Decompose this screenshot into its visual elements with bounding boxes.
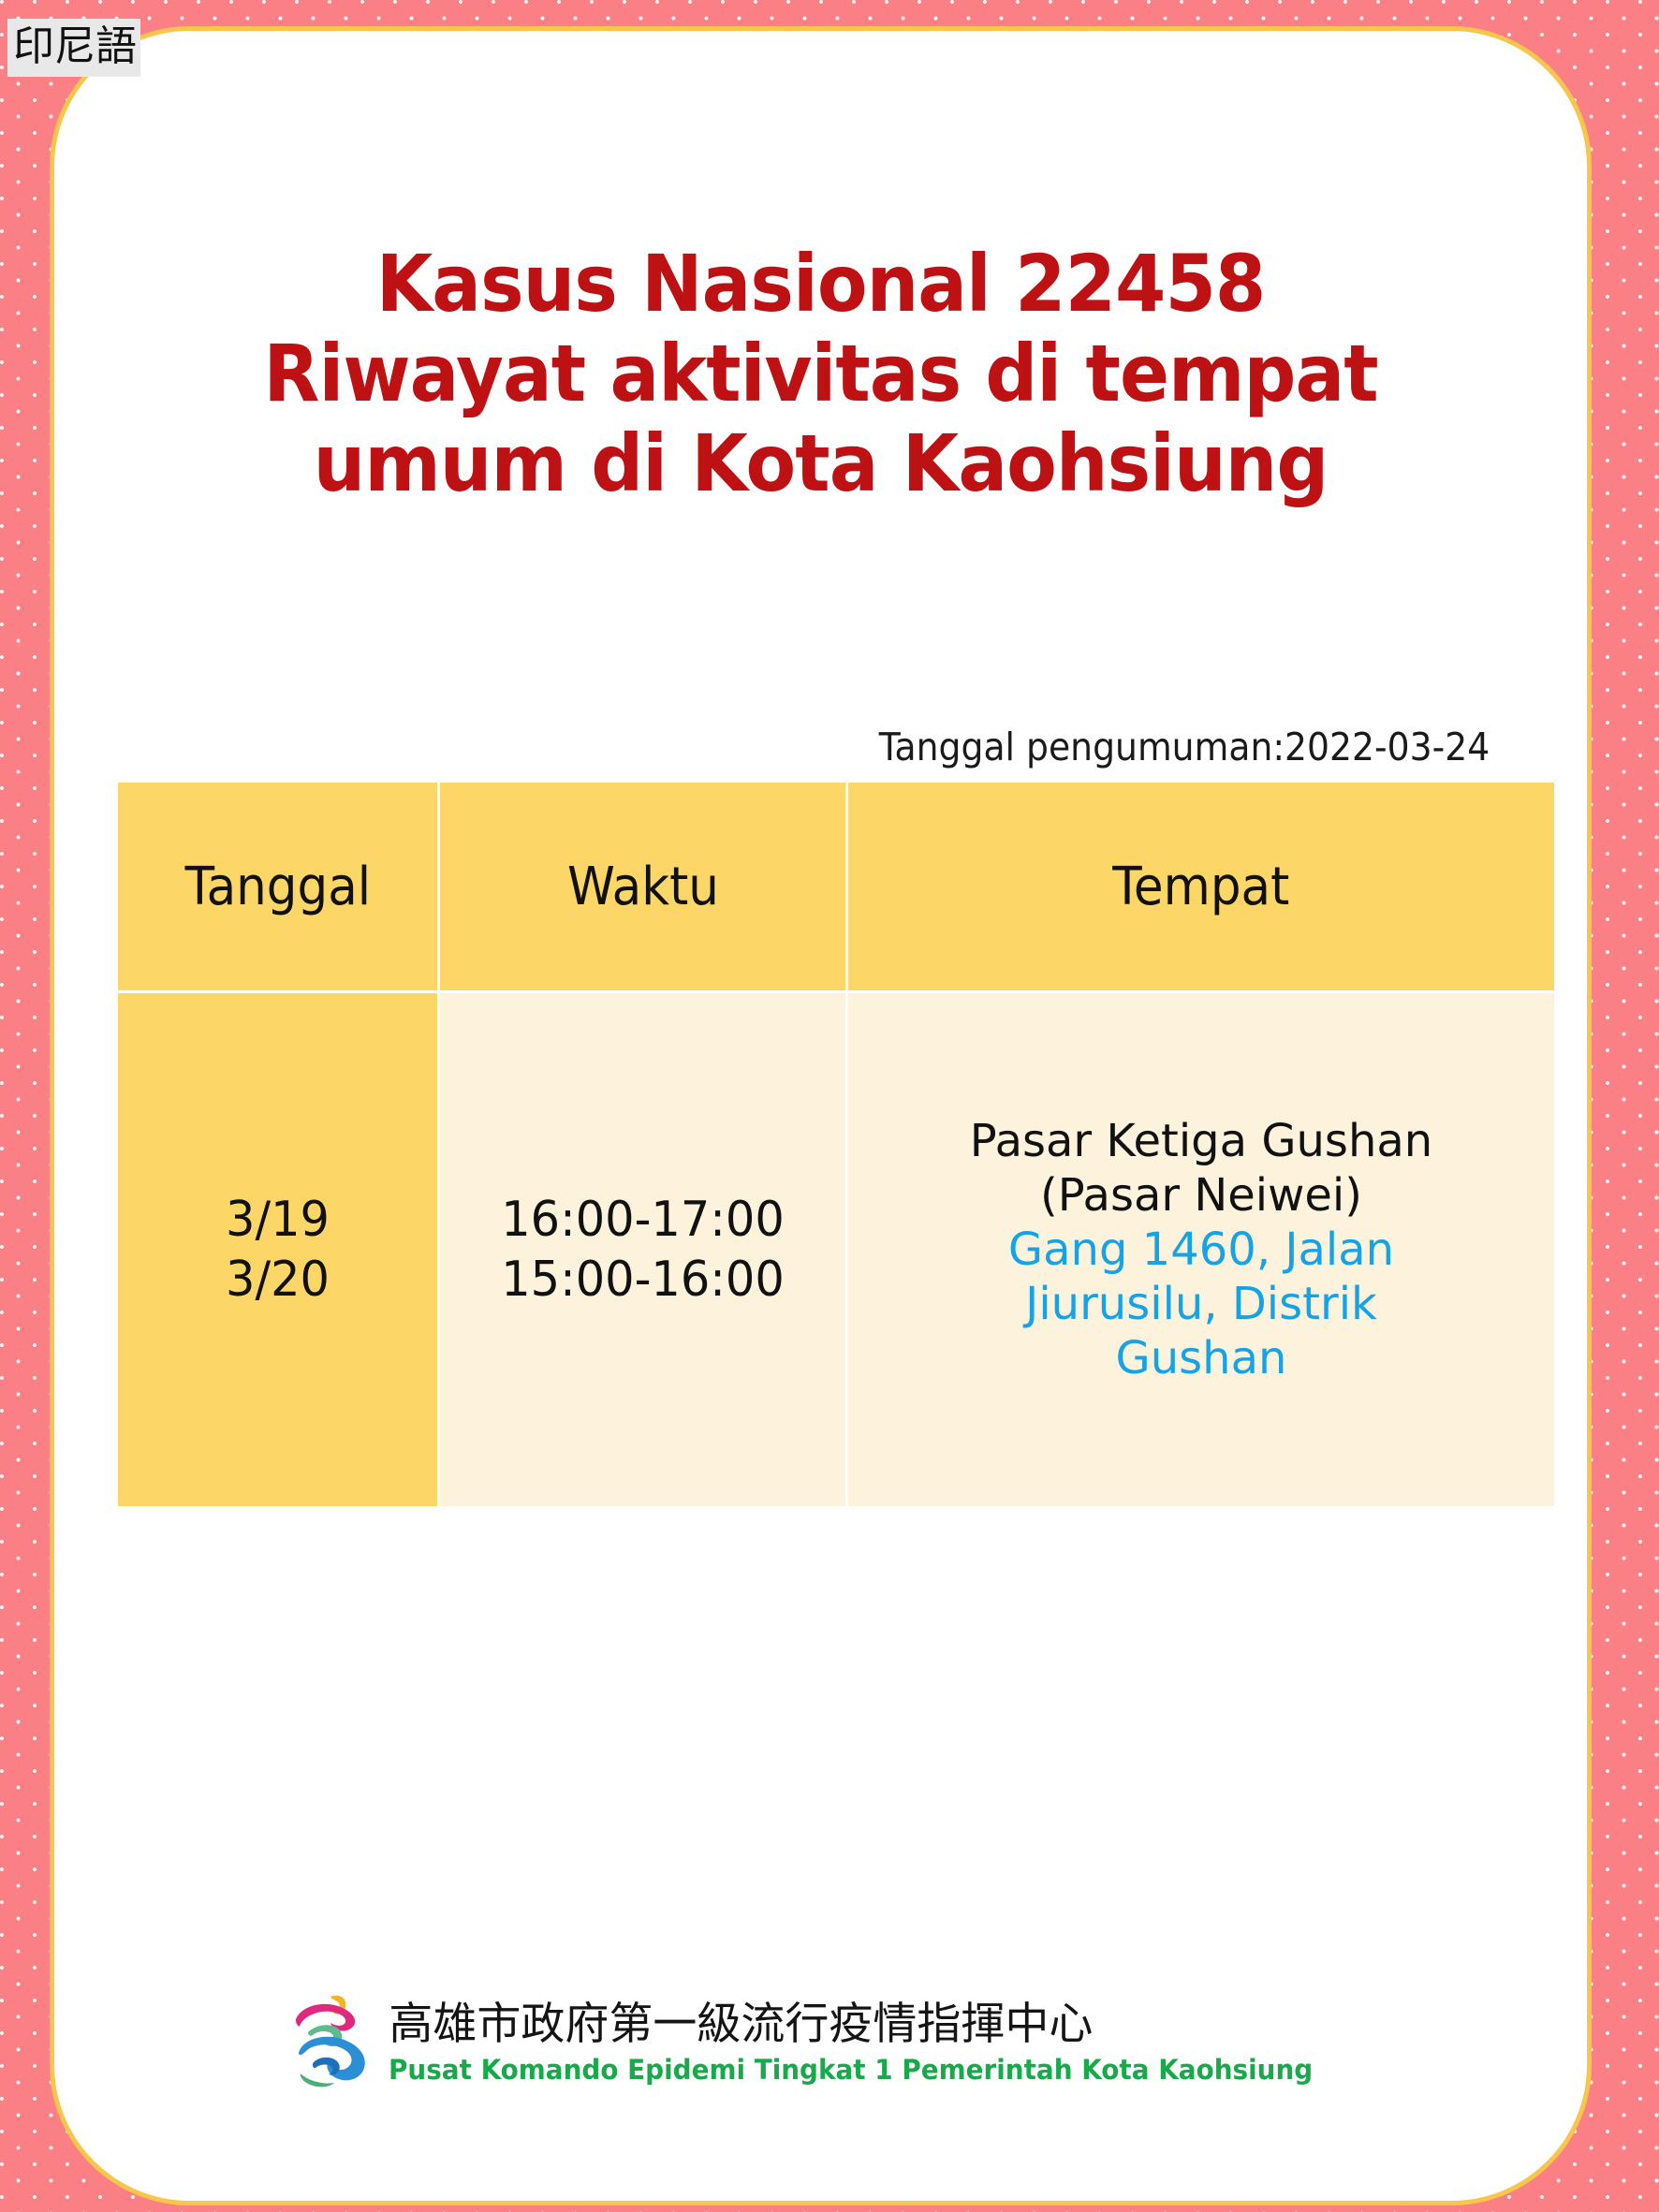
date-value-2: 3/20 xyxy=(126,1250,430,1310)
column-header-time: Waktu xyxy=(439,782,847,992)
time-value-2: 15:00-16:00 xyxy=(450,1250,835,1310)
time-value-1: 16:00-17:00 xyxy=(450,1190,835,1250)
page-title: Kasus Nasional 22458 Riwayat aktivitas d… xyxy=(108,239,1533,508)
activity-table: Tanggal Waktu Tempat 3/19 3/20 16:00-17:… xyxy=(115,780,1557,1509)
announcement-date: Tanggal pengumuman:2022-03-24 xyxy=(878,724,1490,770)
cell-place: Pasar Ketiga Gushan (Pasar Neiwei) Gang … xyxy=(847,992,1556,1508)
cell-times: 16:00-17:00 15:00-16:00 xyxy=(439,992,847,1508)
place-address-line-1: Gang 1460, Jalan xyxy=(861,1223,1541,1277)
organization-name-cn: 高雄市政府第一級流行疫情指揮中心 xyxy=(389,1998,1351,2052)
organization-name-id: Pusat Komando Epidemi Tingkat 1 Pemerint… xyxy=(389,2052,1313,2087)
title-line-2: Riwayat aktivitas di tempat xyxy=(108,329,1533,418)
column-header-time-label: Waktu xyxy=(567,857,719,917)
footer-text-block: 高雄市政府第一級流行疫情指揮中心 Pusat Komando Epidemi T… xyxy=(389,1998,1351,2087)
column-header-place: Tempat xyxy=(847,782,1556,992)
title-line-1: Kasus Nasional 22458 xyxy=(108,239,1533,329)
table-row: 3/19 3/20 16:00-17:00 15:00-16:00 Pasar … xyxy=(117,992,1556,1508)
column-header-date: Tanggal xyxy=(117,782,439,992)
column-header-place-label: Tempat xyxy=(1112,857,1289,917)
place-address-line-2: Jiurusilu, Distrik xyxy=(861,1277,1541,1331)
table-header: Tanggal Waktu Tempat xyxy=(117,782,1556,992)
place-address-line-3: Gushan xyxy=(861,1331,1541,1385)
date-value-1: 3/19 xyxy=(126,1190,430,1250)
language-badge: 印尼語 xyxy=(7,19,140,77)
place-name-line-1: Pasar Ketiga Gushan xyxy=(861,1114,1541,1168)
poster-card: Kasus Nasional 22458 Riwayat aktivitas d… xyxy=(50,26,1592,2205)
kaohsiung-city-swirl-logo-icon xyxy=(289,1991,375,2094)
column-header-date-label: Tanggal xyxy=(184,857,370,917)
footer: 高雄市政府第一級流行疫情指揮中心 Pusat Komando Epidemi T… xyxy=(54,1991,1587,2094)
cell-dates: 3/19 3/20 xyxy=(117,992,439,1508)
title-line-3: umum di Kota Kaohsiung xyxy=(108,418,1533,508)
place-name-line-2: (Pasar Neiwei) xyxy=(861,1168,1541,1223)
table-header-row: Tanggal Waktu Tempat xyxy=(117,782,1556,992)
table-body: 3/19 3/20 16:00-17:00 15:00-16:00 Pasar … xyxy=(117,992,1556,1508)
